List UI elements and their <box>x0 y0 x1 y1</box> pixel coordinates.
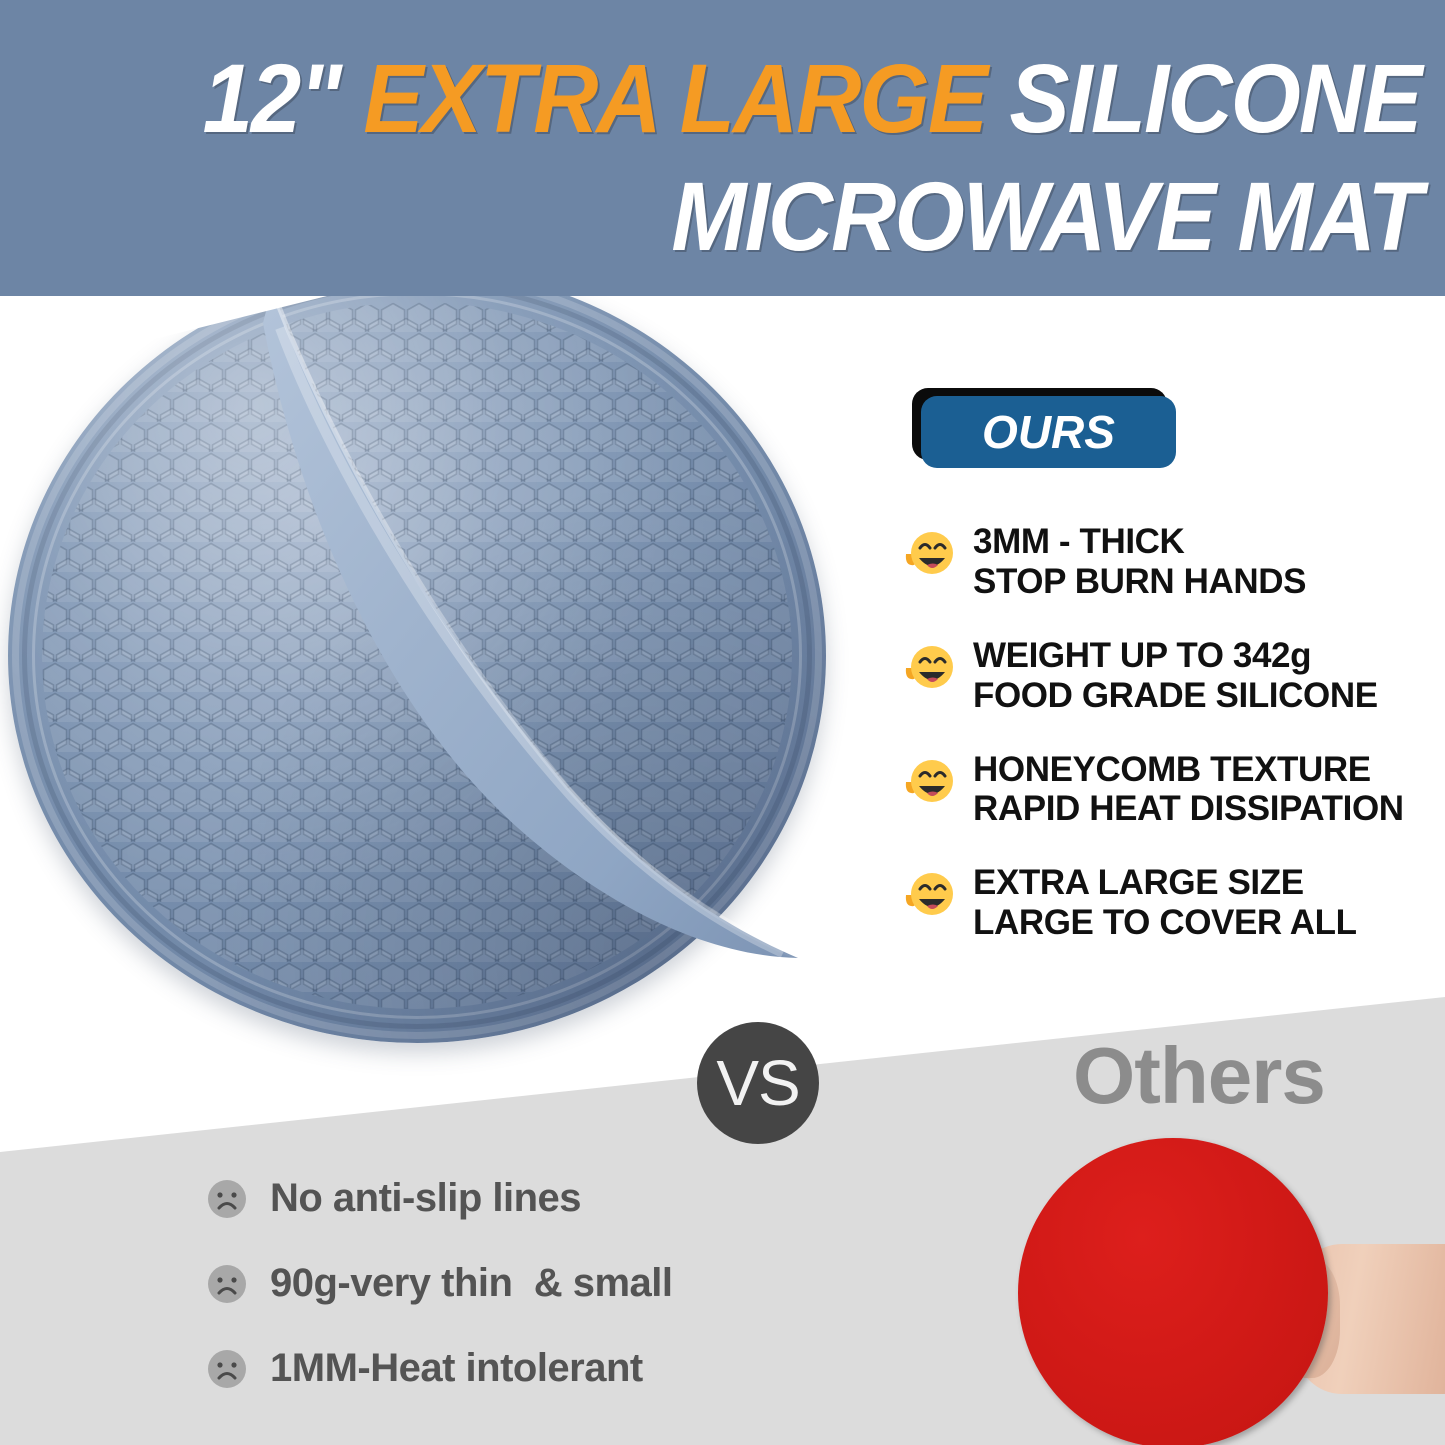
con-item-text: No anti-slip lines <box>270 1176 581 1221</box>
con-item-text: 1MM-Heat intolerant <box>270 1346 643 1391</box>
honeycomb-texture <box>42 302 792 1009</box>
pro-item-text: WEIGHT UP TO 342g FOOD GRADE SILICONE <box>973 636 1378 716</box>
grinning-face-with-hand-icon <box>905 869 957 921</box>
ours-badge-face: OURS <box>921 396 1176 468</box>
cons-list: No anti-slip lines 90g-very thin & small <box>206 1176 766 1431</box>
ours-badge: OURS <box>912 388 1174 466</box>
pros-list: 3MM - THICK STOP BURN HANDS WEIGHT UP TO… <box>905 522 1445 977</box>
pro-item-text: EXTRA LARGE SIZE LARGE TO COVER ALL <box>973 863 1357 943</box>
headline-line-2: MICROWAVE MAT <box>672 168 1421 265</box>
pro-list-item: 3MM - THICK STOP BURN HANDS <box>905 522 1445 602</box>
con-item-text: 90g-very thin & small <box>270 1261 672 1306</box>
header-banner: 12" EXTRA LARGE SILICONE MICROWAVE MAT <box>0 0 1445 296</box>
headline-accent: EXTRA LARGE <box>364 44 1010 153</box>
pro-item-text: HONEYCOMB TEXTURE RAPID HEAT DISSIPATION <box>973 750 1404 830</box>
product-image-silicone-mat <box>8 268 826 1058</box>
grinning-face-with-hand-icon <box>905 528 957 580</box>
con-list-item: 1MM-Heat intolerant <box>206 1346 766 1391</box>
grinning-face-with-hand-icon <box>905 756 957 808</box>
pro-list-item: WEIGHT UP TO 342g FOOD GRADE SILICONE <box>905 636 1445 716</box>
headline-material: SILICONE <box>1010 44 1421 153</box>
frowning-face-icon <box>206 1178 248 1220</box>
frowning-face-icon <box>206 1348 248 1390</box>
versus-label: VS <box>716 1046 799 1120</box>
others-heading: Others <box>1073 1030 1325 1122</box>
frowning-face-icon <box>206 1263 248 1305</box>
competitor-red-mat <box>1018 1138 1328 1445</box>
headline-line-1: 12" EXTRA LARGE SILICONE <box>203 50 1421 147</box>
grinning-face-with-hand-icon <box>905 642 957 694</box>
pro-list-item: HONEYCOMB TEXTURE RAPID HEAT DISSIPATION <box>905 750 1445 830</box>
versus-badge: VS <box>697 1022 819 1144</box>
mat-disc <box>8 268 826 1043</box>
pro-list-item: EXTRA LARGE SIZE LARGE TO COVER ALL <box>905 863 1445 943</box>
pro-item-text: 3MM - THICK STOP BURN HANDS <box>973 522 1306 602</box>
con-list-item: 90g-very thin & small <box>206 1261 766 1306</box>
con-list-item: No anti-slip lines <box>206 1176 766 1221</box>
ours-badge-label: OURS <box>982 405 1115 459</box>
product-infographic: 12" EXTRA LARGE SILICONE MICROWAVE MAT O… <box>0 0 1445 1445</box>
headline-size: 12" <box>203 44 364 153</box>
